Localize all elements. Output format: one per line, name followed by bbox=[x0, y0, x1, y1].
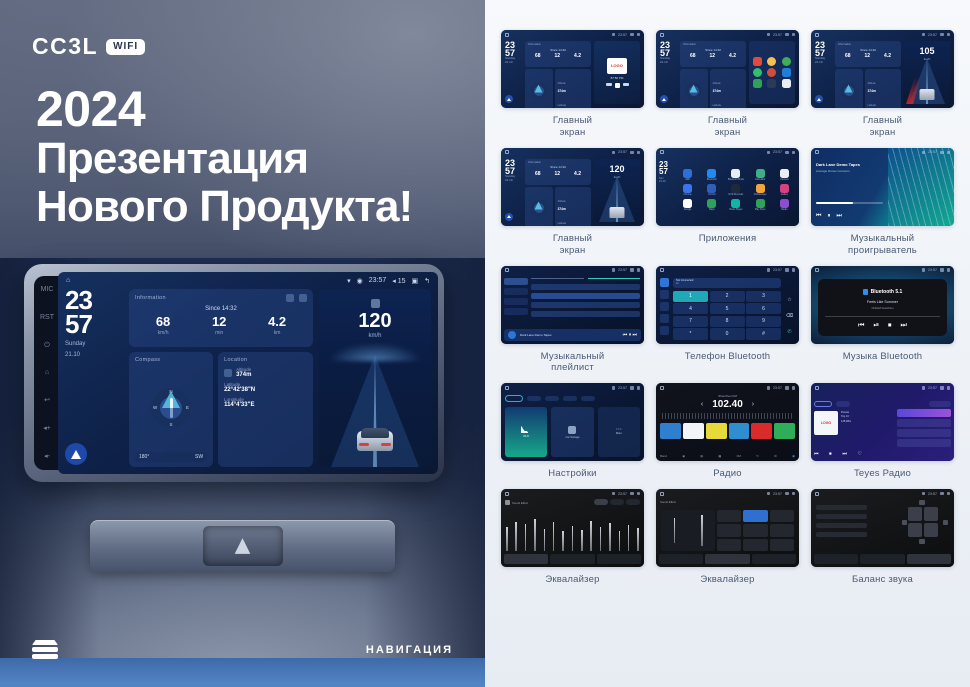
gallery-item[interactable]: 23:57 Dark Lane Demo Tapes Average Dunes… bbox=[811, 148, 954, 257]
bt-title: Bluetooth 5.1 bbox=[871, 289, 903, 295]
app-tile: Maps bbox=[701, 199, 722, 211]
headline-line1: Презентация bbox=[36, 135, 412, 183]
headline-line2: Нового Продукта! bbox=[36, 183, 412, 231]
gallery-item[interactable]: 23:57 Shenzhen FM ‹ 102.40 › Ban bbox=[656, 383, 799, 480]
thumbnail-teyes-radio[interactable]: 23:57 LOGO RussiaTop 10128 kB/s ⏮⏹⏭♡ bbox=[811, 383, 954, 461]
navigation-label: НАВИГАЦИЯ bbox=[366, 644, 453, 656]
drive-speed-value: 105 bbox=[904, 47, 950, 56]
gallery-item[interactable]: 23:57 Bluetooth 5.1 Feels Like Summer Ch… bbox=[811, 266, 954, 375]
thumbnail-apps[interactable]: 23:57 2357Sun21.10 A2D Bluetooth Bluetoo… bbox=[656, 148, 799, 226]
compass-n: N bbox=[169, 389, 172, 394]
stat-distance-unit: km bbox=[268, 330, 286, 336]
thumbnail-caption: Радио bbox=[713, 468, 741, 480]
app-tile: Music Player bbox=[725, 199, 746, 211]
thumb-statusbar: 23:57 bbox=[501, 30, 644, 39]
statusbar-time: 23:57 bbox=[369, 277, 387, 284]
since-label: Since 14:32 bbox=[135, 306, 307, 312]
stat-speed-value: 68 bbox=[156, 315, 170, 328]
information-title: Information bbox=[135, 295, 166, 301]
stat-speed-unit: km/h bbox=[156, 330, 170, 336]
compass-direction: SW bbox=[195, 454, 203, 460]
altitude-value: 374m bbox=[236, 372, 251, 378]
dialpad-key[interactable]: 8 bbox=[710, 316, 745, 327]
volume-up-icon[interactable]: ◂+ bbox=[43, 425, 51, 432]
balance-left-button bbox=[902, 520, 907, 525]
gallery-item[interactable]: 23:57 Sound Effect bbox=[501, 489, 644, 586]
headline-year: 2024 bbox=[36, 84, 412, 135]
radio-band: Shenzhen FM bbox=[656, 394, 799, 398]
thumbnail-home-drive-120[interactable]: 23:57 2357Sunday21.10 InformationSince 1… bbox=[501, 148, 644, 226]
clock-widget[interactable]: 23 57 Sunday 21.10 bbox=[65, 289, 123, 467]
drive-speed-unit: km/h bbox=[904, 57, 950, 61]
drive-speed-value: 120 bbox=[594, 165, 640, 174]
thumbnail-caption: Главный экран bbox=[863, 115, 902, 139]
back-icon[interactable]: ↰ bbox=[424, 277, 430, 285]
station-preset bbox=[751, 423, 772, 439]
gallery-item[interactable]: 23:57 bbox=[501, 266, 644, 375]
gallery-row: 23:57 bbox=[501, 266, 954, 375]
app-tile: Control bbox=[701, 184, 722, 196]
stat-time: 12 min bbox=[212, 315, 226, 336]
drive-speed-unit: km/h bbox=[594, 175, 640, 179]
thumbnail-caption: Эквалайзер bbox=[700, 574, 754, 586]
app-tile: FileManager bbox=[750, 184, 771, 196]
dialpad[interactable]: 1 2 3 4 5 6 7 8 9 * 0 # bbox=[673, 291, 781, 340]
station-preset bbox=[706, 423, 727, 439]
thumb-statusbar: 23:57 bbox=[811, 383, 954, 392]
app-tile: Google bbox=[677, 199, 698, 211]
gallery-item[interactable]: 23:57 2357Sunday21.10 InformationSince 1… bbox=[501, 30, 644, 139]
dialpad-key[interactable]: * bbox=[673, 328, 708, 339]
headline: 2024 Презентация Нового Продукта! bbox=[36, 84, 412, 230]
eq-preset bbox=[770, 524, 794, 536]
thumbnail-sound-balance[interactable]: 23:57 bbox=[811, 489, 954, 567]
app-tile: Bluetooth bbox=[701, 169, 722, 181]
gallery-item[interactable]: 23:57 Not Connected tel 1 2 3 4 bbox=[656, 266, 799, 375]
thumbnail-caption: Баланс звука bbox=[852, 574, 913, 586]
physical-button-column[interactable]: MIC RST ⏻ ⌂ ↩ ◂+ ◂- bbox=[34, 276, 60, 470]
dialpad-key[interactable]: 3 bbox=[746, 291, 781, 302]
app-tile: Radio bbox=[774, 199, 795, 211]
thumbnail-caption: Приложения bbox=[699, 233, 757, 245]
gallery-row: 23:57 Sound Effect bbox=[501, 489, 954, 586]
thumb-statusbar: 23:57 bbox=[501, 148, 644, 157]
compass-w: W bbox=[153, 405, 157, 410]
reset-button-label[interactable]: RST bbox=[40, 314, 54, 321]
compass-card[interactable]: Compass N S W E bbox=[129, 352, 213, 467]
thumbnail-home-apps[interactable]: 23:57 2357Sunday21.10 InformationSince 1… bbox=[656, 30, 799, 108]
thumbnail-equalizer-presets[interactable]: 23:57 Sound Effect bbox=[656, 489, 799, 567]
gallery-item[interactable]: 23:57 2357Sunday21.10 InformationSince 1… bbox=[501, 148, 644, 257]
thumbnail-caption: Главный экран bbox=[708, 115, 747, 139]
stop-icon[interactable]: ⏹ bbox=[829, 451, 832, 457]
thumbnail-home-drive-105[interactable]: 23:57 2357Sunday21.10 InformationSince 1… bbox=[811, 30, 954, 108]
stat-distance-value: 4.2 bbox=[268, 315, 286, 328]
gallery-item[interactable]: 23:57 2357Sunday21.10 InformationSince 1… bbox=[656, 30, 799, 139]
seat-icon bbox=[924, 507, 938, 521]
app-tile: DVR Recorder bbox=[725, 184, 746, 196]
app-tile: A2D bbox=[677, 169, 698, 181]
car-3d-model bbox=[357, 421, 393, 451]
compass-s: S bbox=[170, 422, 173, 427]
dialpad-key[interactable]: 9 bbox=[746, 316, 781, 327]
expand-icon[interactable] bbox=[299, 294, 307, 302]
app-tile: Camera bbox=[774, 169, 795, 181]
gallery-item[interactable]: 23:57 LOGO RussiaTop 10128 kB/s ⏮⏹⏭♡ bbox=[811, 383, 954, 480]
next-icon[interactable]: ⏭ bbox=[836, 213, 841, 220]
thumbnail-music-player[interactable]: 23:57 Dark Lane Demo Tapes Average Dunes… bbox=[811, 148, 954, 226]
thumbnail-caption: Главный экран bbox=[553, 233, 592, 257]
home-icon[interactable]: ⌂ bbox=[66, 277, 70, 284]
head-unit-screen[interactable]: ⌂ ▾ ◉ 23:57 ◂ 15 ▣ ↰ 23 57 bbox=[58, 272, 438, 474]
thumbnail-caption: Настройки bbox=[548, 468, 596, 480]
thumb-statusbar: 23:57 bbox=[811, 489, 954, 498]
thumbnail-caption: Музыкальный плейлист bbox=[541, 351, 605, 375]
gallery-row: 23:57 Wi-Fi Car Storage bbox=[501, 383, 954, 480]
brand-logo: CC3L WIFI bbox=[32, 33, 145, 60]
next-icon[interactable]: ⏭ bbox=[901, 322, 907, 330]
compass-e: E bbox=[186, 405, 189, 410]
dialpad-key[interactable]: 4 bbox=[673, 303, 708, 314]
prev-station-icon[interactable]: ‹ bbox=[701, 401, 703, 408]
app-tile: Bluetooth Music bbox=[725, 169, 746, 181]
settings-icon[interactable] bbox=[286, 294, 294, 302]
eq-preset bbox=[770, 510, 794, 522]
thumbnail-caption: Музыка Bluetooth bbox=[843, 351, 923, 363]
wifi-badge: WIFI bbox=[106, 39, 145, 55]
compass-rose: N S W E bbox=[135, 363, 207, 452]
screen-statusbar: ⌂ ▾ ◉ 23:57 ◂ 15 ▣ ↰ bbox=[58, 272, 438, 289]
volume-down-icon[interactable]: ◂- bbox=[44, 453, 50, 460]
eq-preset bbox=[743, 539, 767, 551]
next-station-icon[interactable]: › bbox=[752, 401, 754, 408]
clock-minutes: 57 bbox=[65, 313, 123, 337]
stat-time-value: 12 bbox=[212, 315, 226, 328]
thumbnail-bluetooth-music[interactable]: 23:57 Bluetooth 5.1 Feels Like Summer Ch… bbox=[811, 266, 954, 344]
thumbnail-caption: Телефон Bluetooth bbox=[685, 351, 771, 363]
dialpad-key[interactable]: 6 bbox=[746, 303, 781, 314]
hero-footer: НАВИГАЦИЯ bbox=[0, 640, 485, 659]
dialpad-key[interactable]: 1 bbox=[673, 291, 708, 302]
bluetooth-icon bbox=[863, 289, 868, 295]
wifi-icon: ▾ bbox=[347, 277, 351, 285]
station-preset bbox=[660, 423, 681, 439]
seat-icon bbox=[908, 507, 922, 521]
navigation-arrow-icon bbox=[71, 450, 81, 459]
signal-icon: ◉ bbox=[357, 277, 363, 285]
longitude-value: 114°4'33"E bbox=[224, 402, 307, 408]
app-tile: Gallery bbox=[774, 184, 795, 196]
stop-icon[interactable]: ⏹ bbox=[888, 322, 892, 330]
thumb-statusbar: 23:57 bbox=[656, 30, 799, 39]
speed-limit-icon bbox=[371, 299, 380, 308]
navigation-fab[interactable] bbox=[65, 443, 87, 465]
dialpad-key[interactable]: 0 bbox=[710, 328, 745, 339]
balance-down-button bbox=[919, 539, 925, 544]
dialpad-key[interactable]: 2 bbox=[710, 291, 745, 302]
latitude-value: 22°42'38"N bbox=[224, 387, 307, 393]
gallery-item[interactable]: 23:57 2357Sun21.10 A2D Bluetooth Bluetoo… bbox=[656, 148, 799, 257]
gallery-row: 23:57 2357Sunday21.10 InformationSince 1… bbox=[501, 148, 954, 257]
eq-preset bbox=[770, 539, 794, 551]
dialpad-key[interactable]: # bbox=[746, 328, 781, 339]
hero-panel: MIC RST ⏻ ⌂ ↩ ◂+ ◂- ⌂ ▾ ◉ 23:57 ◂ 15 ▣ bbox=[0, 0, 485, 687]
apps-grid[interactable]: A2D Bluetooth Bluetooth Music Calculator… bbox=[677, 159, 795, 222]
thumbnail-equalizer-bands[interactable]: 23:57 Sound Effect bbox=[501, 489, 644, 567]
car-dashboard-photo: MIC RST ⏻ ⌂ ↩ ◂+ ◂- ⌂ ▾ ◉ 23:57 ◂ 15 ▣ bbox=[0, 258, 485, 658]
gallery-item[interactable]: 23:57 2357Sunday21.10 InformationSince 1… bbox=[811, 30, 954, 139]
next-icon[interactable]: ⏭ bbox=[842, 451, 847, 457]
station-preset bbox=[683, 423, 704, 439]
eq-preset bbox=[717, 524, 741, 536]
call-icon[interactable]: ✆ bbox=[787, 329, 791, 335]
thumb-statusbar: 23:57 bbox=[501, 383, 644, 392]
gallery-row: 23:57 2357Sunday21.10 InformationSince 1… bbox=[501, 30, 954, 139]
thumbnail-settings[interactable]: 23:57 Wi-Fi Car Storage bbox=[501, 383, 644, 461]
hazard-triangle-icon bbox=[234, 538, 251, 555]
app-tile: Calculator bbox=[750, 169, 771, 181]
location-card[interactable]: Location Altitude 374m Latitude bbox=[218, 352, 313, 467]
radio-frequency: 102.40 bbox=[712, 399, 743, 410]
prev-icon[interactable]: ⏮ bbox=[814, 451, 819, 457]
seat-icon bbox=[924, 523, 938, 537]
hazard-button[interactable] bbox=[203, 526, 283, 566]
power-icon[interactable]: ⏻ bbox=[44, 342, 50, 349]
stat-speed: 68 km/h bbox=[156, 315, 170, 336]
brand-name: CC3L bbox=[32, 33, 98, 60]
clock-day: Sunday bbox=[65, 340, 123, 348]
play-pause-icon[interactable]: ⏯ bbox=[873, 322, 879, 330]
app-tile: Play Store bbox=[750, 199, 771, 211]
eq-sliders[interactable] bbox=[506, 510, 639, 551]
screenshot-icon[interactable]: ▣ bbox=[412, 277, 419, 285]
head-unit-bezel: MIC RST ⏻ ⌂ ↩ ◂+ ◂- ⌂ ▾ ◉ 23:57 ◂ 15 ▣ bbox=[24, 264, 444, 482]
gallery-item[interactable]: 23:57 Wi-Fi Car Storage bbox=[501, 383, 644, 480]
app-tile: Chrome bbox=[677, 184, 698, 196]
thumb-statusbar: 23:57 bbox=[501, 489, 644, 498]
station-preset bbox=[729, 423, 750, 439]
thumb-statusbar: 23:57 bbox=[656, 489, 799, 498]
thumbnail-caption: Главный экран bbox=[553, 115, 592, 139]
track-artist: Average Dunes Contours bbox=[816, 169, 883, 173]
favorite-icon[interactable]: ☆ bbox=[787, 297, 791, 303]
back-icon[interactable]: ↩ bbox=[44, 397, 50, 404]
thumbnail-caption: Музыкальный проигрыватель bbox=[848, 233, 917, 257]
balance-up-button bbox=[919, 500, 925, 505]
eq-preset bbox=[717, 510, 741, 522]
stat-distance: 4.2 km bbox=[268, 315, 286, 336]
gallery-item[interactable]: 23:57 bbox=[811, 489, 954, 586]
eq-preset bbox=[743, 524, 767, 536]
prev-icon[interactable]: ⏮ bbox=[816, 213, 821, 220]
eq-preset-grid[interactable] bbox=[717, 510, 794, 551]
altitude-icon bbox=[224, 369, 232, 377]
layers-icon bbox=[32, 640, 58, 659]
seat-balance-grid[interactable] bbox=[908, 507, 938, 537]
thumb-statusbar: 23:57 bbox=[656, 266, 799, 275]
mic-button-label[interactable]: MIC bbox=[41, 286, 54, 293]
thumb-statusbar: 23:57 bbox=[811, 148, 954, 157]
compass-degrees: 180° bbox=[139, 454, 149, 460]
clock-date: 21.10 bbox=[65, 351, 123, 359]
thumb-statusbar: 23:57 bbox=[656, 148, 799, 157]
gallery-item[interactable]: 23:57 Sound Effect bbox=[656, 489, 799, 586]
dialpad-key[interactable]: 5 bbox=[710, 303, 745, 314]
speed-unit: km/h bbox=[319, 333, 431, 339]
thumb-statusbar: 23:57 bbox=[811, 30, 954, 39]
thumbnail-bluetooth-phone[interactable]: 23:57 Not Connected tel 1 2 3 4 bbox=[656, 266, 799, 344]
station-preset bbox=[774, 423, 795, 439]
widgets-column: Information Since 14:32 68 km/h bbox=[129, 289, 313, 467]
play-pause-icon[interactable]: ⏸ bbox=[827, 213, 830, 220]
thumbnail-caption: Teyes Радио bbox=[854, 468, 911, 480]
location-title: Location bbox=[224, 357, 307, 363]
station-presets[interactable] bbox=[660, 423, 795, 439]
volume-level: ◂ 15 bbox=[392, 277, 405, 285]
stat-time-unit: min bbox=[212, 330, 226, 336]
backspace-icon[interactable]: ⌫ bbox=[786, 313, 793, 319]
track-title: Dark Lane Demo Tapes bbox=[816, 162, 883, 167]
prev-icon[interactable]: ⏮ bbox=[858, 322, 864, 330]
bt-track: Feels Like Summer bbox=[811, 300, 954, 304]
information-card[interactable]: Information Since 14:32 68 km/h bbox=[129, 289, 313, 347]
compass-needle-icon bbox=[170, 398, 173, 418]
thumbnail-caption: Эквалайзер bbox=[545, 574, 599, 586]
thumbnail-radio[interactable]: 23:57 Shenzhen FM ‹ 102.40 › Ban bbox=[656, 383, 799, 461]
seat-icon bbox=[908, 523, 922, 537]
balance-right-button bbox=[943, 520, 948, 525]
thumb-statusbar: 23:57 bbox=[501, 266, 644, 275]
thumbnail-home-media[interactable]: 23:57 2357Sunday21.10 InformationSince 1… bbox=[501, 30, 644, 108]
home-icon[interactable]: ⌂ bbox=[45, 369, 49, 376]
dialpad-key[interactable]: 7 bbox=[673, 316, 708, 327]
eq-preset bbox=[717, 539, 741, 551]
drive-view-widget[interactable]: 120 km/h bbox=[319, 289, 431, 467]
thumb-statusbar: 23:57 bbox=[656, 383, 799, 392]
bt-artist: Childish Gambino bbox=[811, 306, 954, 310]
favorite-icon[interactable]: ♡ bbox=[858, 451, 862, 457]
thumb-statusbar: 23:57 bbox=[811, 266, 954, 275]
screenshot-gallery: 23:57 2357Sunday21.10 InformationSince 1… bbox=[485, 0, 970, 687]
thumbnail-playlist[interactable]: 23:57 bbox=[501, 266, 644, 344]
screen-body: 23 57 Sunday 21.10 Information bbox=[58, 289, 438, 474]
eq-preset bbox=[743, 510, 767, 522]
speed-value: 120 bbox=[319, 311, 431, 331]
